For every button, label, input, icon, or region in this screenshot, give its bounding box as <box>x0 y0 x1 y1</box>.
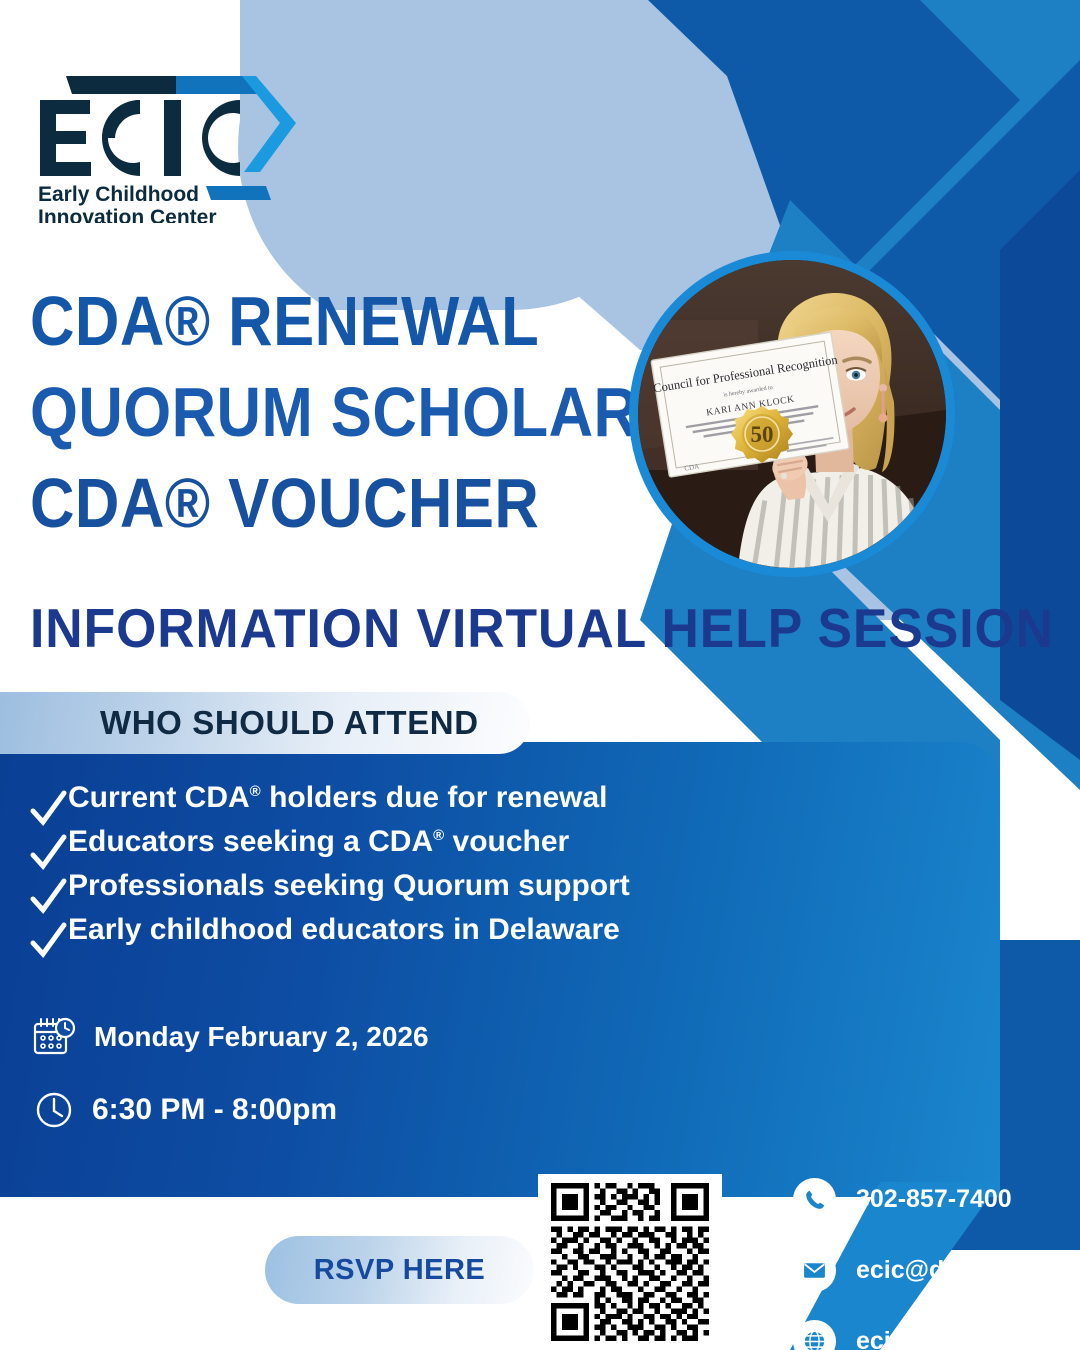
logo-tagline-line1: Early Childhood <box>38 183 199 206</box>
photo-illustration: Council for Professional Recognition is … <box>638 260 946 568</box>
globe-icon <box>793 1320 836 1350</box>
event-date-row: Monday February 2, 2026 <box>32 1016 429 1058</box>
event-date-label: Monday February 2, 2026 <box>94 1021 429 1053</box>
list-item-label: Professionals seeking Quorum support <box>68 871 630 901</box>
contact-website[interactable]: ecic.desu.edu <box>793 1320 1039 1350</box>
logo-letters <box>40 100 240 176</box>
list-item-label: Educators seeking a CDA® voucher <box>68 827 569 857</box>
flyer-poster: Early Childhood Innovation Center CDA® R… <box>0 0 1080 1350</box>
clock-icon <box>34 1090 74 1130</box>
contact-email-value: ecic@desu.edu <box>856 1256 1039 1285</box>
contact-email[interactable]: ecic@desu.edu <box>793 1249 1039 1292</box>
rsvp-button-label: RSVP HERE <box>314 1254 486 1287</box>
email-icon <box>793 1249 836 1292</box>
contact-phone-value: 302-857-7400 <box>856 1185 1012 1214</box>
qr-code-image <box>547 1183 713 1341</box>
educator-photo: Council for Professional Recognition is … <box>629 251 955 577</box>
event-time-row: 6:30 PM - 8:00pm <box>34 1090 337 1130</box>
logo-accent-bar <box>206 186 271 200</box>
contact-website-value: ecic.desu.edu <box>856 1327 1021 1350</box>
attendee-list: Current CDA® holders due for renewal Edu… <box>28 783 630 959</box>
phone-icon <box>793 1178 836 1221</box>
check-icon <box>28 833 68 878</box>
list-item: Professionals seeking Quorum support <box>28 871 630 915</box>
qr-code[interactable] <box>538 1174 722 1350</box>
check-icon <box>28 921 68 966</box>
who-should-attend-label: WHO SHOULD ATTEND <box>100 704 479 742</box>
who-should-attend-banner: WHO SHOULD ATTEND <box>0 692 530 754</box>
rsvp-button[interactable]: RSVP HERE <box>265 1236 534 1304</box>
contact-phone[interactable]: 302-857-7400 <box>793 1178 1039 1221</box>
list-item: Early childhood educators in Delaware <box>28 915 630 959</box>
headline-subtitle: INFORMATION VIRTUAL HELP SESSION <box>30 596 1054 660</box>
ecic-logo: Early Childhood Innovation Center <box>28 38 328 223</box>
check-icon <box>28 789 68 834</box>
list-item-label: Current CDA® holders due for renewal <box>68 783 607 813</box>
logo-tagline-line2: Innovation Center <box>38 206 217 223</box>
certificate-seal-number: 50 <box>751 422 774 447</box>
list-item: Current CDA® holders due for renewal <box>28 783 630 827</box>
logo-bar-navy <box>66 76 176 94</box>
list-item: Educators seeking a CDA® voucher <box>28 827 630 871</box>
list-item-label: Early childhood educators in Delaware <box>68 915 620 945</box>
event-time-label: 6:30 PM - 8:00pm <box>92 1093 337 1127</box>
contact-list: 302-857-7400 ecic@desu.edu <box>793 1178 1039 1350</box>
check-icon <box>28 877 68 922</box>
calendar-clock-icon <box>32 1016 76 1058</box>
